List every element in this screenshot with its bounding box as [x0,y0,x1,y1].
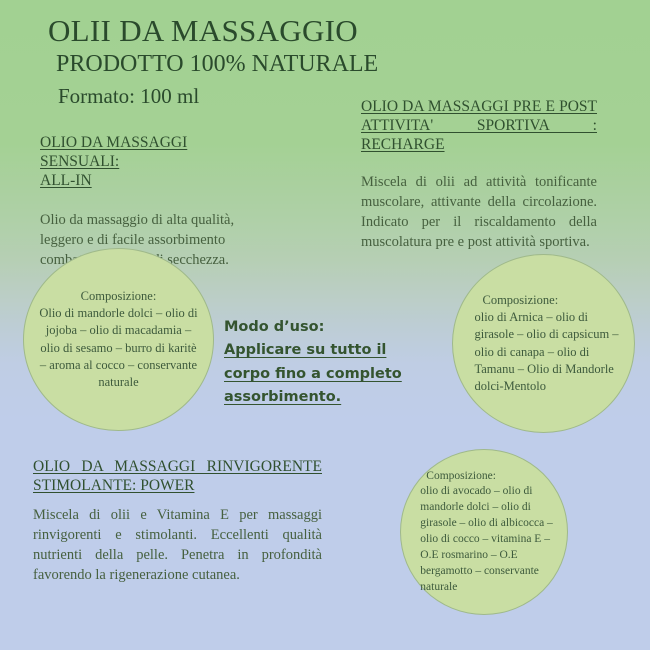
section-sensuali-heading-line2: ALL-IN [40,172,258,191]
page-title: OLII DA MASSAGGIO [48,14,468,47]
composition-circle-power: Composizione: olio di avocado – olio di … [400,449,568,615]
composition-recharge-text: olio di Arnica – olio di girasole – olio… [474,310,618,393]
usage-text: Applicare su tutto il corpo fino a compl… [224,342,402,405]
composition-power-content: Composizione: olio di avocado – olio di … [408,469,559,596]
section-power-body: Miscela di olii e Vitamina E per massagg… [33,505,322,585]
usage-label: Modo d’uso: [224,319,324,335]
section-power-heading-line1: OLIO DA MASSAGGI RINVIGORENTE [33,458,322,477]
composition-sensuali-content: Composizione: Olio di mandorle dolci – o… [39,288,198,392]
composition-circle-recharge: Composizione: olio di Arnica – olio di g… [452,254,635,433]
section-sensuali-heading: OLIO DA MASSAGGI SENSUALI: ALL-IN [40,134,258,191]
composition-sensuali-text: Olio di mandorle dolci – olio di jojoba … [39,306,197,389]
composition-power-text: olio di avocado – olio di mandorle dolci… [420,485,553,592]
poster-title-block: OLII DA MASSAGGIO PRODOTTO 100% NATURALE… [48,14,468,108]
section-recharge: OLIO DA MASSAGGI PRE E POST ATTIVITA' SP… [361,98,597,252]
section-power-heading-line2: STIMOLANTE: POWER [33,477,322,496]
section-recharge-heading-line2: ATTIVITA' SPORTIVA : RECHARGE [361,117,597,155]
composition-recharge-content: Composizione: olio di Arnica – olio di g… [460,292,626,396]
section-recharge-heading: OLIO DA MASSAGGI PRE E POST ATTIVITA' SP… [361,98,597,155]
section-power-heading: OLIO DA MASSAGGI RINVIGORENTE STIMOLANTE… [33,458,322,496]
section-sensuali-heading-line1: OLIO DA MASSAGGI SENSUALI: [40,134,258,172]
composition-circle-sensuali: Composizione: Olio di mandorle dolci – o… [23,248,214,431]
product-poster: OLII DA MASSAGGIO PRODOTTO 100% NATURALE… [0,0,650,650]
section-recharge-heading-line1: OLIO DA MASSAGGI PRE E POST [361,98,597,117]
composition-power-title: Composizione: [426,469,559,485]
section-recharge-body: Miscela di olii ad attività tonificante … [361,172,597,252]
composition-sensuali-title: Composizione: [39,288,198,305]
composition-recharge-title: Composizione: [482,292,626,309]
poster-subtitle: PRODOTTO 100% NATURALE [56,51,468,79]
section-sensuali: OLIO DA MASSAGGI SENSUALI: ALL-IN Olio d… [40,134,258,270]
usage-instructions: Modo d’uso: Applicare su tutto il corpo … [224,316,404,410]
section-power: OLIO DA MASSAGGI RINVIGORENTE STIMOLANTE… [33,458,322,585]
